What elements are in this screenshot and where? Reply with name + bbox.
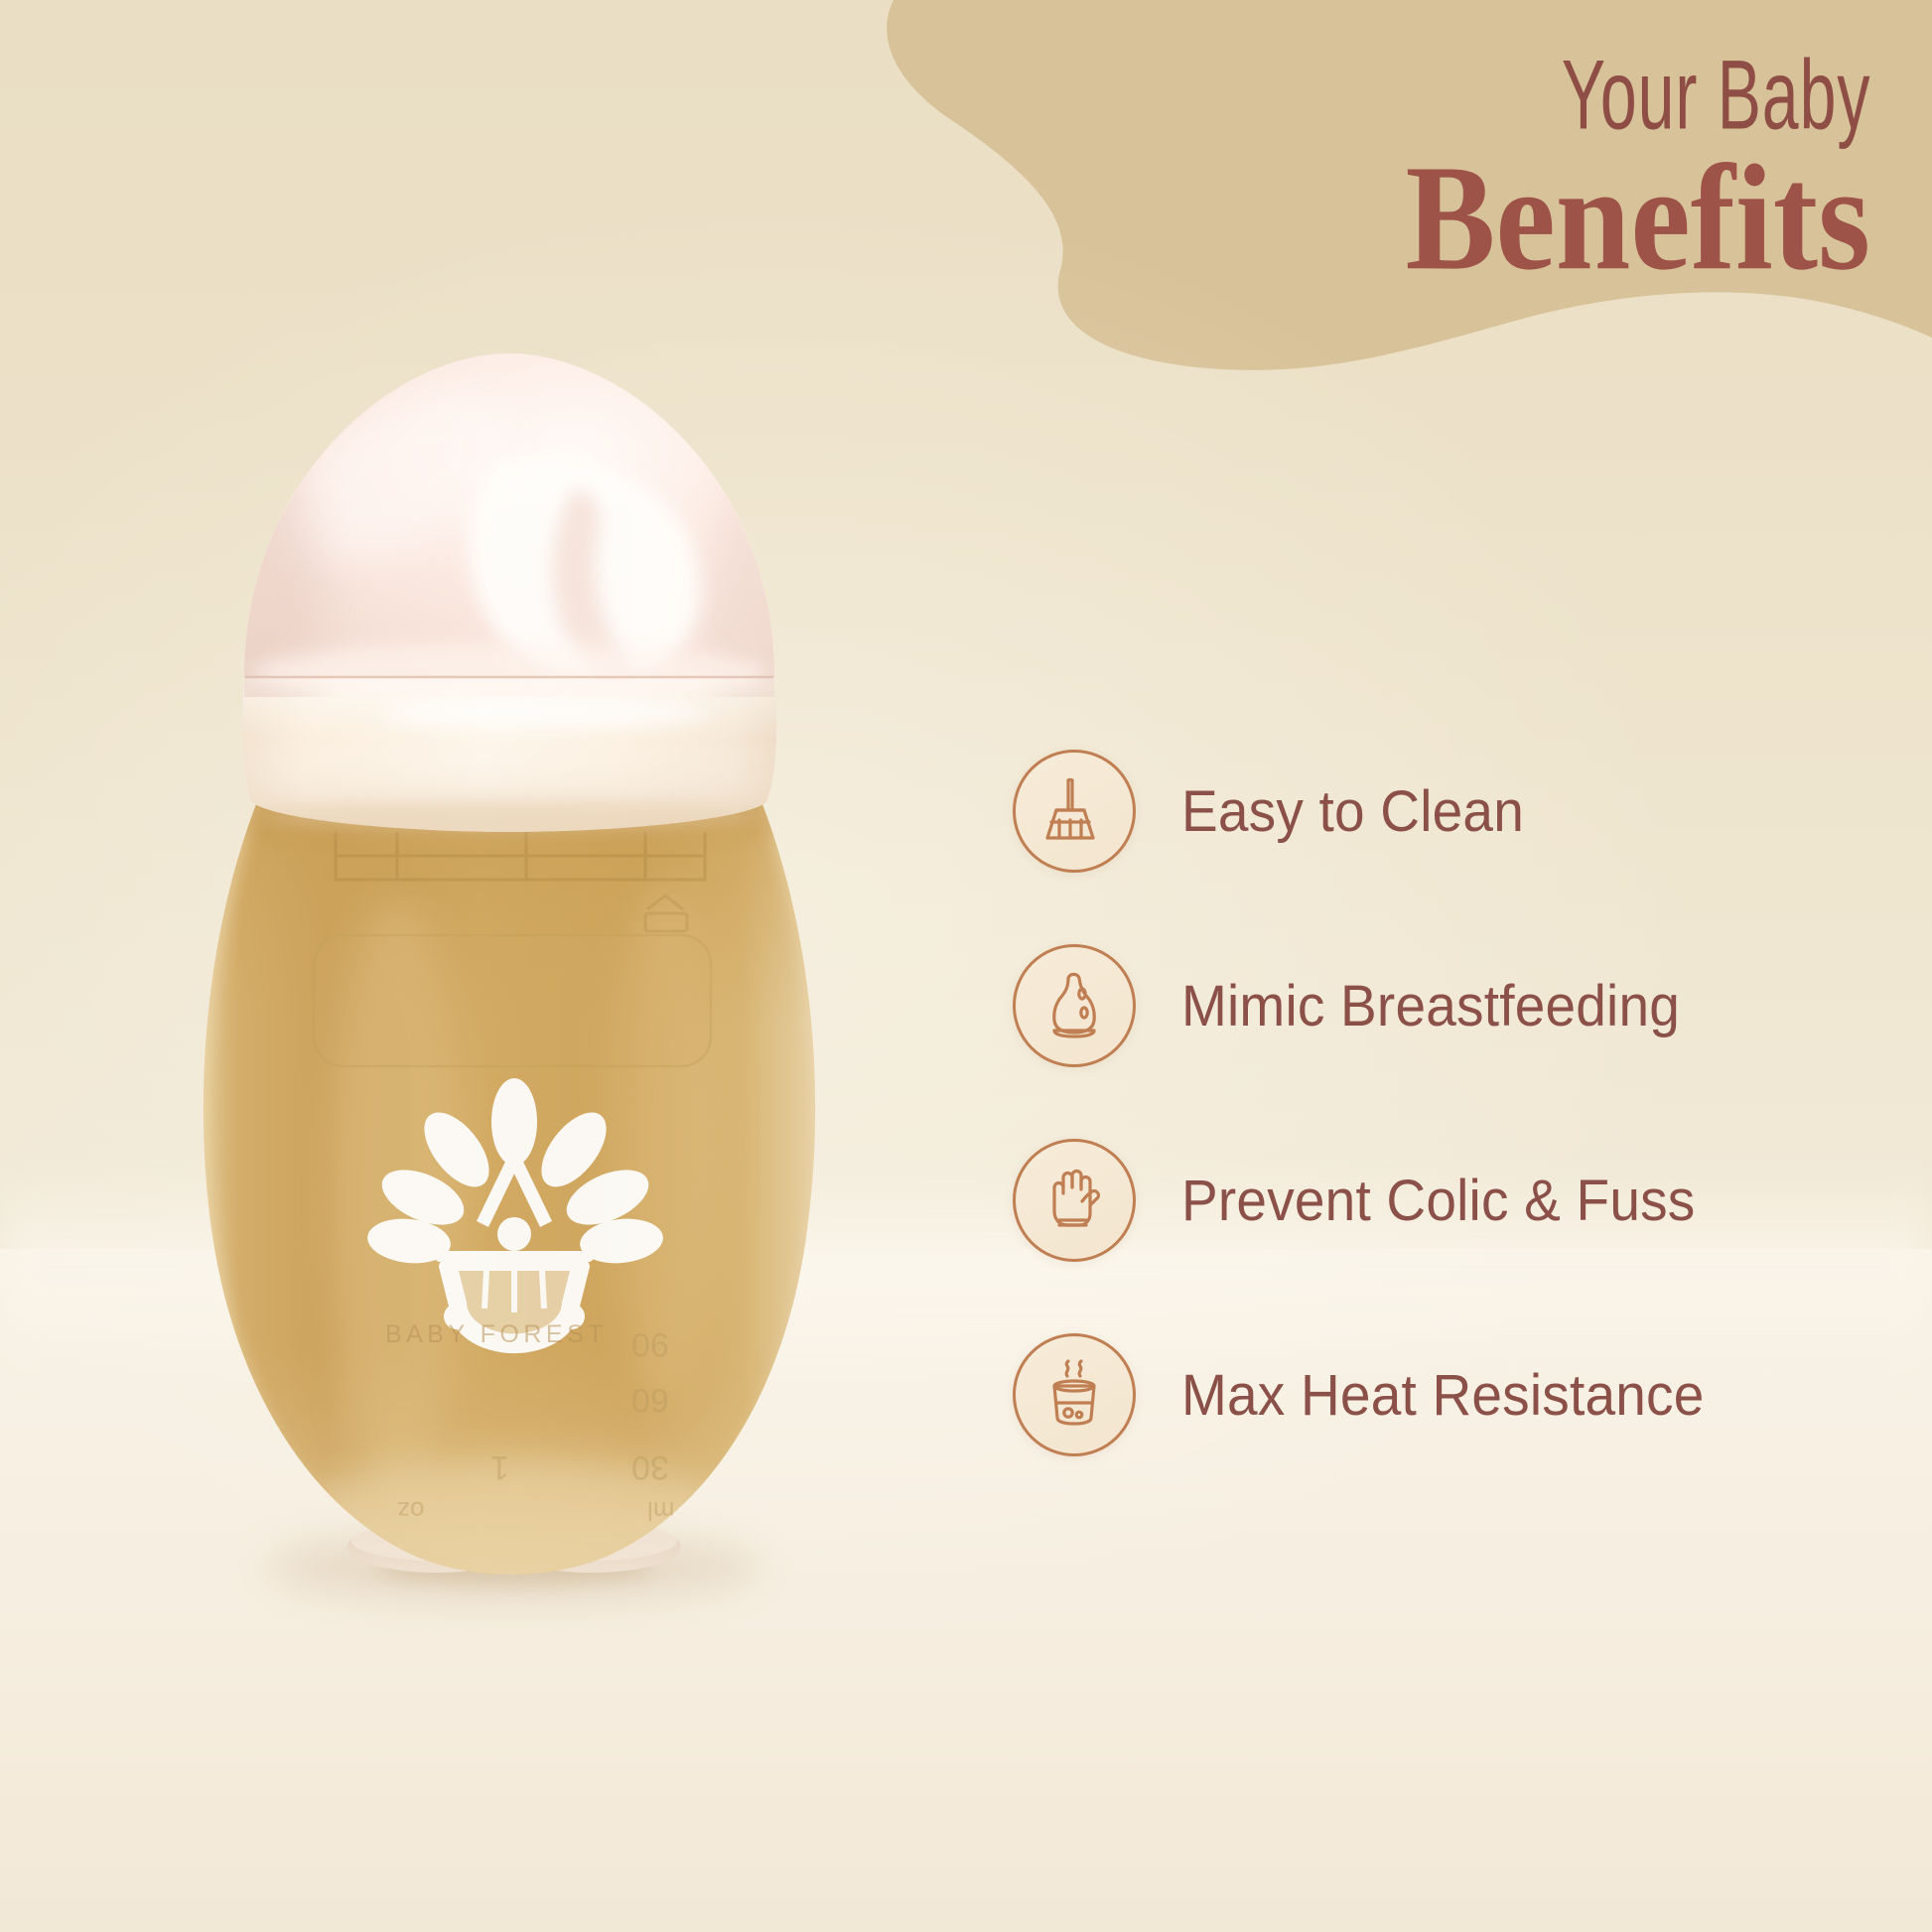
benefit-label: Mimic Breastfeeding (1181, 972, 1680, 1039)
bottle-body (169, 784, 844, 1598)
stop-hand-icon (1013, 1139, 1136, 1262)
nipple-icon (1013, 944, 1136, 1067)
benefit-item[interactable]: Easy to Clean (1013, 737, 1906, 886)
benefit-label: Max Heat Resistance (1181, 1361, 1705, 1429)
benefit-item[interactable]: Max Heat Resistance (1013, 1320, 1906, 1469)
product-benefits-graphic: Your Baby Benefits (0, 0, 1932, 1932)
benefit-item[interactable]: Mimic Breastfeeding (1013, 931, 1906, 1080)
benefit-label: Prevent Colic & Fuss (1181, 1167, 1696, 1234)
benefits-list: Easy to Clean Mimic Breastfeeding (1013, 737, 1906, 1469)
headline-top-line: Your Baby (1443, 47, 1870, 145)
benefit-label: Easy to Clean (1181, 777, 1524, 845)
hot-cup-icon (1013, 1333, 1136, 1456)
broom-icon (1013, 750, 1136, 873)
headline-main-line: Benefits (1406, 143, 1870, 294)
bottle-collar-ring (242, 677, 776, 832)
benefit-item[interactable]: Prevent Colic & Fuss (1013, 1126, 1906, 1275)
embossed-brand-plate (314, 935, 711, 1066)
headline-block: Your Baby Benefits (1406, 73, 1870, 294)
product-bottle-image: BABY FOREST 90 60 30 ml 1 oz (149, 328, 844, 1737)
